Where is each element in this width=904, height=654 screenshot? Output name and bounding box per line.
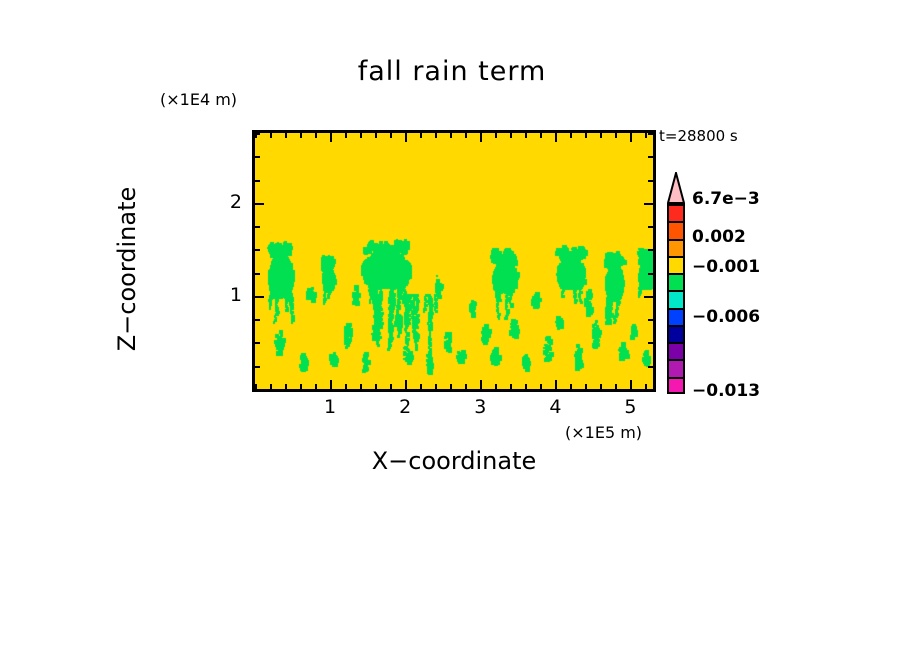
- y-tick-minor: [648, 389, 653, 391]
- colorbar-band: [667, 290, 685, 307]
- x-tick-minor: [600, 384, 602, 389]
- y-tick-minor: [648, 249, 653, 251]
- x-tick-minor: [585, 133, 587, 138]
- contour-field: [255, 133, 653, 389]
- y-tick-minor: [255, 226, 260, 228]
- x-tick-label: 3: [460, 396, 500, 418]
- x-tick-minor: [510, 384, 512, 389]
- x-tick-label: 2: [385, 396, 425, 418]
- colorbar-band: [667, 377, 685, 394]
- plot-area: [252, 130, 656, 392]
- x-tick-minor: [345, 133, 347, 138]
- x-tick-minor: [540, 133, 542, 138]
- timestamp-label: t=28800 s: [659, 127, 738, 145]
- colorbar-tick-label: 0.002: [692, 227, 746, 247]
- x-tick-minor: [285, 133, 287, 138]
- colorbar-band: [667, 359, 685, 376]
- y-tick-minor: [648, 366, 653, 368]
- x-tick-minor: [465, 384, 467, 389]
- x-axis-unit-label: (×1E5 m): [565, 423, 642, 442]
- colorbar: [667, 204, 685, 394]
- y-tick-minor: [648, 156, 653, 158]
- x-tick-minor: [525, 133, 527, 138]
- x-tick-minor: [420, 133, 422, 138]
- figure-canvas: fall rain term (×1E4 m) Z−coordinate X−c…: [0, 0, 904, 654]
- colorbar-band: [667, 239, 685, 256]
- x-tick-minor: [420, 384, 422, 389]
- colorbar-tick-label: −0.006: [692, 307, 760, 327]
- x-tick-minor: [570, 384, 572, 389]
- y-tick-minor: [255, 366, 260, 368]
- page-title: fall rain term: [0, 56, 904, 87]
- x-tick-minor: [390, 384, 392, 389]
- y-tick-major: [644, 203, 653, 205]
- colorbar-tick-label: −0.013: [692, 381, 760, 401]
- colorbar-tick-label: 6.7e−3: [692, 189, 760, 209]
- x-tick-minor: [360, 133, 362, 138]
- x-tick-minor: [270, 133, 272, 138]
- x-tick-minor: [570, 133, 572, 138]
- y-tick-minor: [255, 156, 260, 158]
- y-tick-label: 2: [212, 191, 242, 213]
- x-tick-major: [630, 133, 632, 142]
- x-tick-minor: [435, 133, 437, 138]
- y-tick-minor: [255, 273, 260, 275]
- y-tick-minor: [648, 180, 653, 182]
- colorbar-band: [667, 308, 685, 325]
- x-tick-label: 1: [310, 396, 350, 418]
- y-tick-minor: [255, 389, 260, 391]
- x-tick-major: [405, 133, 407, 142]
- x-tick-major: [330, 133, 332, 142]
- y-tick-minor: [648, 133, 653, 135]
- x-tick-minor: [345, 384, 347, 389]
- x-tick-minor: [315, 384, 317, 389]
- x-tick-minor: [600, 133, 602, 138]
- x-tick-major: [480, 380, 482, 389]
- x-tick-minor: [615, 133, 617, 138]
- x-tick-label: 5: [610, 396, 650, 418]
- x-tick-minor: [315, 133, 317, 138]
- x-tick-major: [480, 133, 482, 142]
- y-tick-label: 1: [212, 284, 242, 306]
- y-tick-major: [644, 296, 653, 298]
- y-tick-major: [255, 296, 264, 298]
- x-tick-minor: [360, 384, 362, 389]
- y-tick-minor: [255, 342, 260, 344]
- x-tick-minor: [615, 384, 617, 389]
- x-tick-minor: [255, 133, 257, 138]
- colorbar-band: [667, 221, 685, 238]
- x-tick-major: [405, 380, 407, 389]
- x-tick-minor: [285, 384, 287, 389]
- y-axis-title: Z−coordinate: [113, 129, 141, 409]
- y-tick-minor: [255, 319, 260, 321]
- x-tick-minor: [510, 133, 512, 138]
- x-tick-major: [555, 133, 557, 142]
- y-tick-minor: [648, 342, 653, 344]
- x-tick-major: [555, 380, 557, 389]
- colorbar-band: [667, 273, 685, 290]
- x-axis-title: X−coordinate: [252, 447, 656, 475]
- x-tick-minor: [450, 384, 452, 389]
- colorbar-band: [667, 256, 685, 273]
- x-tick-minor: [585, 384, 587, 389]
- colorbar-band: [667, 204, 685, 221]
- y-tick-major: [255, 203, 264, 205]
- x-tick-minor: [375, 133, 377, 138]
- x-tick-label: 4: [535, 396, 575, 418]
- x-tick-minor: [540, 384, 542, 389]
- colorbar-band: [667, 342, 685, 359]
- x-tick-major: [630, 380, 632, 389]
- x-tick-major: [330, 380, 332, 389]
- colorbar-band: [667, 325, 685, 342]
- x-tick-minor: [300, 133, 302, 138]
- x-tick-minor: [390, 133, 392, 138]
- y-tick-minor: [648, 273, 653, 275]
- x-tick-minor: [300, 384, 302, 389]
- y-tick-minor: [648, 226, 653, 228]
- colorbar-arrow-icon: [667, 172, 685, 204]
- y-tick-minor: [255, 180, 260, 182]
- y-tick-minor: [255, 249, 260, 251]
- colorbar-tick-label: −0.001: [692, 257, 760, 277]
- y-axis-unit-label: (×1E4 m): [160, 90, 237, 109]
- x-tick-minor: [450, 133, 452, 138]
- y-tick-minor: [648, 319, 653, 321]
- x-tick-minor: [270, 384, 272, 389]
- x-tick-minor: [495, 384, 497, 389]
- x-tick-minor: [375, 384, 377, 389]
- x-tick-minor: [495, 133, 497, 138]
- x-tick-minor: [465, 133, 467, 138]
- x-tick-minor: [525, 384, 527, 389]
- x-tick-minor: [435, 384, 437, 389]
